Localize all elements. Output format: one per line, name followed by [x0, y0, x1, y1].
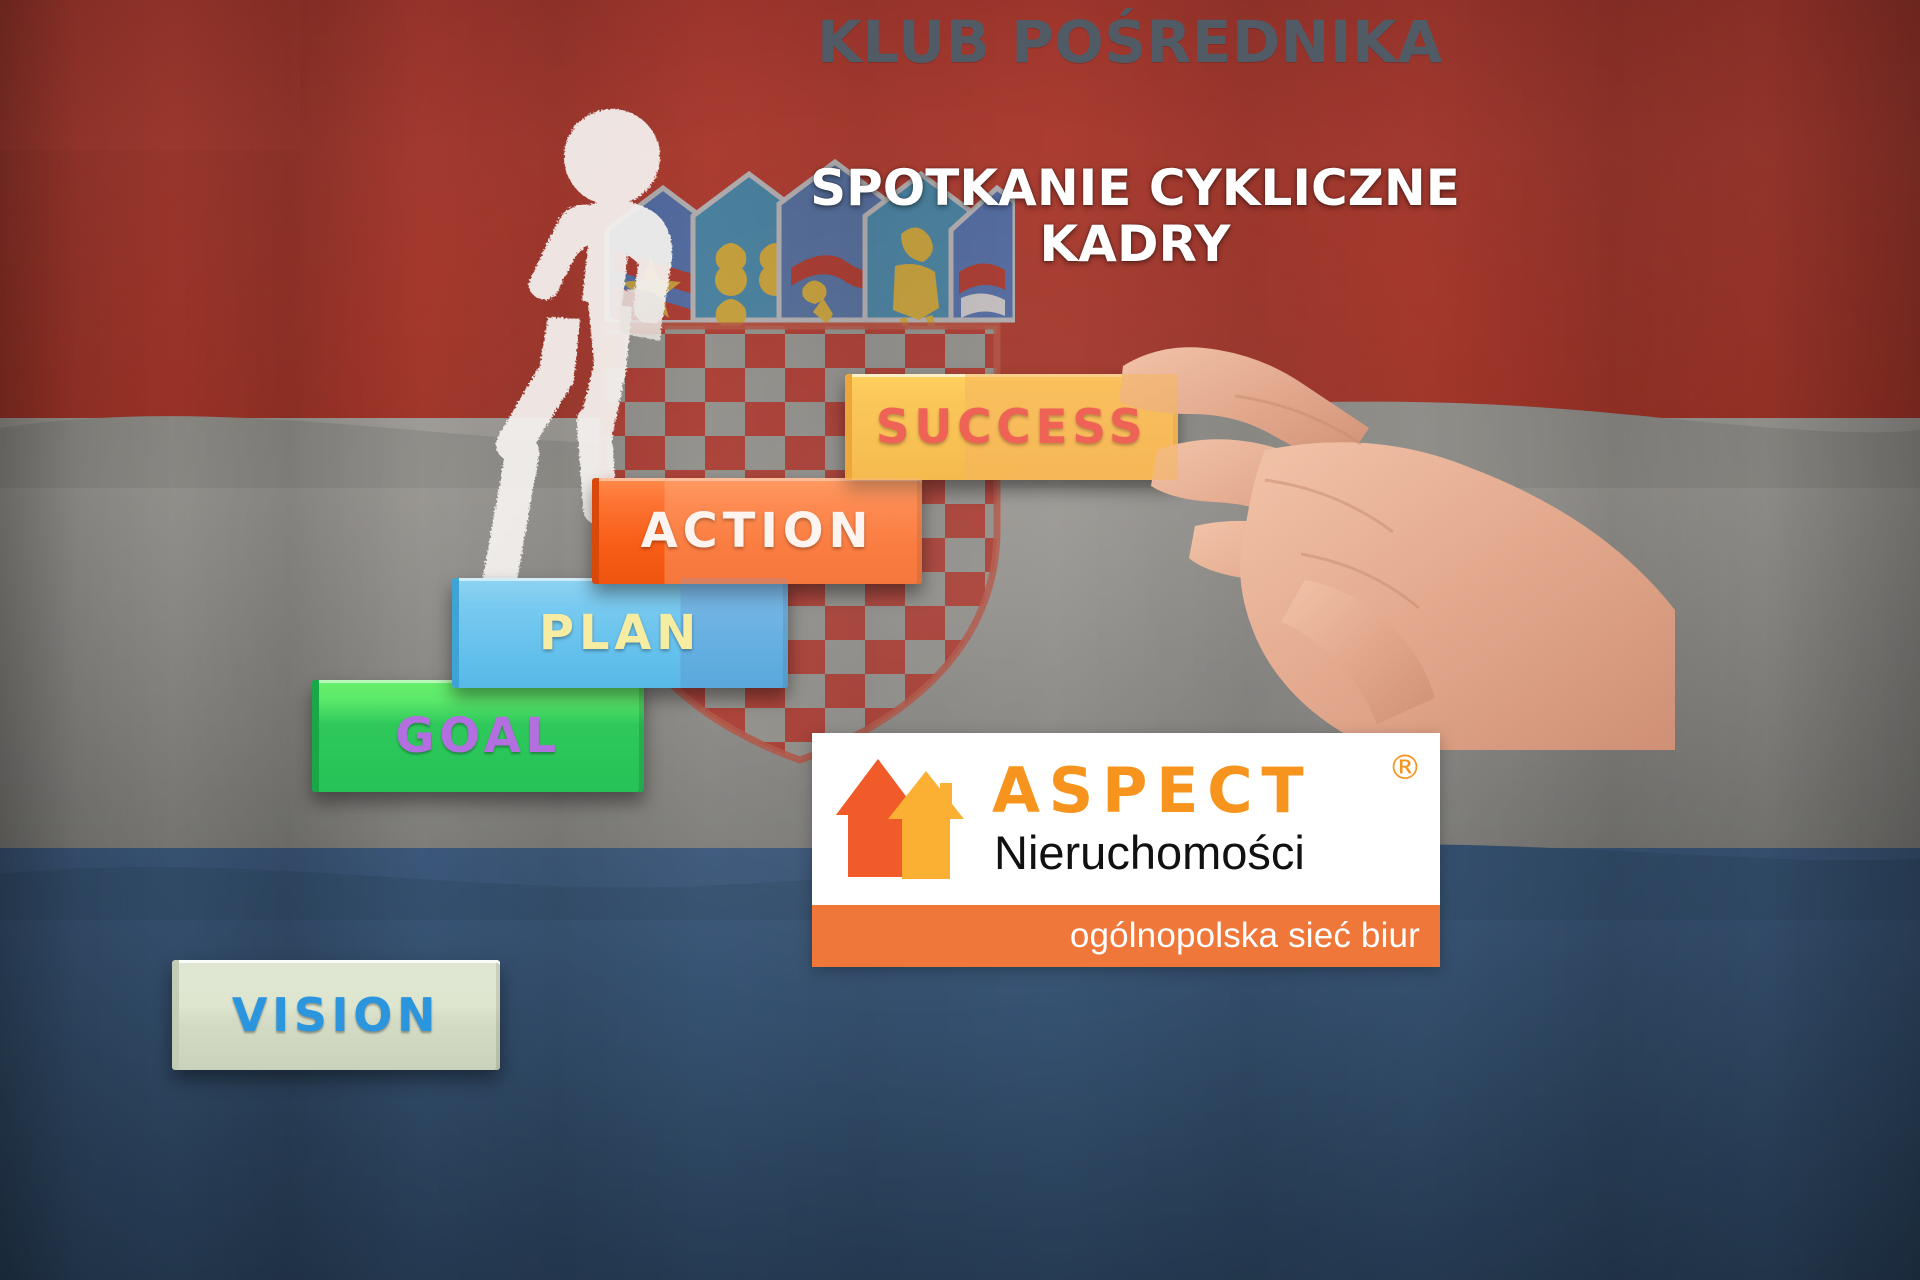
step-block-action[interactable]: ACTION — [592, 478, 922, 584]
step-block-goal[interactable]: GOAL — [312, 680, 644, 792]
step-label-success: SUCCESS — [845, 400, 1178, 455]
poster-canvas: VISION GOAL PLAN ACTION SUCCESS — [0, 0, 1920, 1280]
poster-club-title: KLUB POŚREDNIKA — [760, 12, 1500, 73]
poster-meeting-title: SPOTKANIE CYKLICZNE KADRY — [790, 160, 1480, 272]
step-label-vision: VISION — [172, 988, 500, 1042]
logo-tagline: ogólnopolska sieć biur — [1070, 916, 1420, 956]
registered-trademark-icon: ® — [1388, 748, 1422, 788]
meeting-title-line-1: SPOTKANIE CYKLICZNE — [810, 159, 1460, 217]
pointing-hand-icon — [1115, 330, 1675, 750]
step-label-action: ACTION — [592, 503, 922, 559]
step-label-plan: PLAN — [452, 605, 788, 661]
background-grain — [0, 0, 300, 150]
logo-subtitle: Nieruchomości — [986, 828, 1440, 877]
aspect-logo-card[interactable]: ® ASPECT Nieruchomości ogólnopolska sieć… — [812, 733, 1440, 967]
step-block-plan[interactable]: PLAN — [452, 578, 788, 688]
logo-top-row: ® ASPECT Nieruchomości — [812, 733, 1440, 905]
meeting-title-line-2: KADRY — [790, 216, 1480, 272]
step-label-goal: GOAL — [312, 708, 644, 764]
step-block-vision[interactable]: VISION — [172, 960, 500, 1070]
logo-wordmark: ® ASPECT Nieruchomości — [980, 760, 1440, 877]
logo-tagline-band: ogólnopolska sieć biur — [812, 905, 1440, 967]
logo-brand-name: ASPECT — [986, 760, 1440, 822]
house-with-arrow-icon — [830, 753, 980, 885]
